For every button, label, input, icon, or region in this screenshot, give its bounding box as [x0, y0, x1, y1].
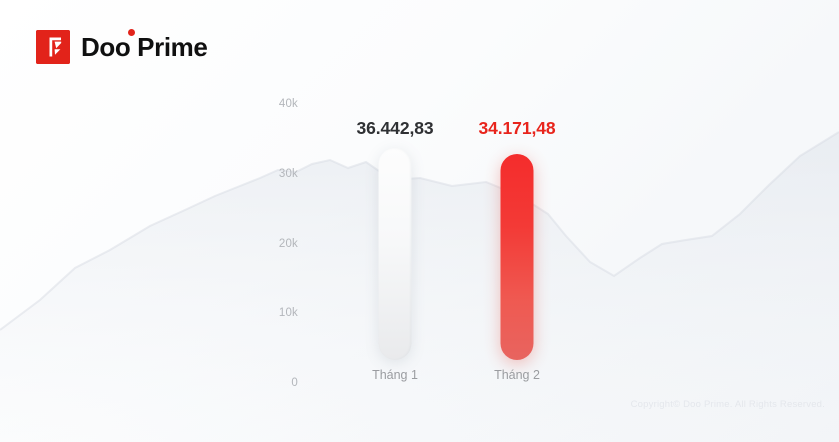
bar-value-label: 36.442,83: [357, 118, 434, 139]
y-axis-tick: 30k: [279, 168, 298, 180]
doo-prime-logo-mark-icon: [36, 30, 70, 64]
y-axis: 40k 30k 20k 10k 0: [258, 104, 298, 360]
bar-thang-2[interactable]: [501, 154, 534, 360]
x-axis-category-label: Tháng 1: [372, 368, 418, 382]
bar-thang-1[interactable]: [379, 148, 412, 360]
copyright-notice: Copyright© Doo Prime. All Rights Reserve…: [631, 399, 825, 410]
y-axis-tick: 20k: [279, 238, 298, 250]
brand-accent-dot-icon: [128, 29, 135, 36]
y-axis-tick: 40k: [279, 98, 298, 110]
plot-area: 36.442,83 Tháng 1 34.171,48 Tháng 2: [318, 104, 618, 360]
bar-chart: 40k 30k 20k 10k 0 36.442,83 Tháng 1 34.1…: [0, 0, 839, 442]
brand-logo: Doo Prime: [36, 30, 207, 64]
y-axis-tick: 0: [291, 377, 298, 389]
chart-canvas: Doo Prime 40k 30k 20k 10k 0 36.442,83 Th…: [0, 0, 839, 442]
bar-group-thang-1: 36.442,83 Tháng 1: [330, 104, 460, 360]
bar-group-thang-2: 34.171,48 Tháng 2: [452, 104, 582, 360]
bar-value-label: 34.171,48: [479, 118, 556, 139]
y-axis-tick: 10k: [279, 307, 298, 319]
x-axis-category-label: Tháng 2: [494, 368, 540, 382]
brand-name: Doo Prime: [81, 32, 207, 63]
